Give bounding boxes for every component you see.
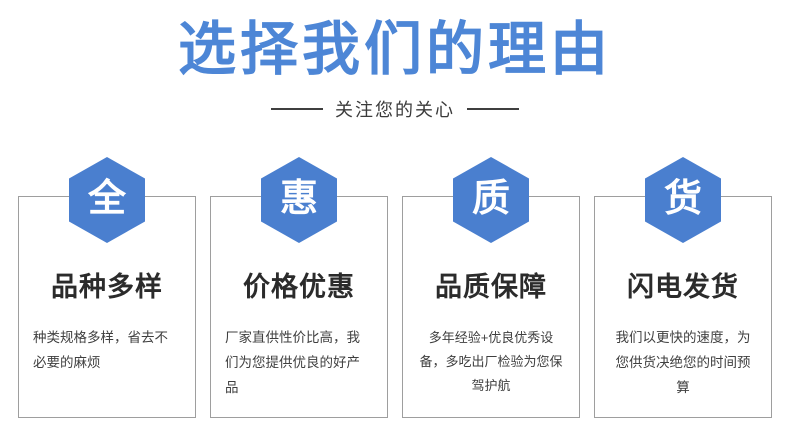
feature-card-1: 全 品种多样 种类规格多样，省去不必要的麻烦	[18, 196, 196, 418]
page-title: 选择我们的理由	[0, 18, 790, 82]
divider-left	[271, 108, 323, 110]
card-title: 品质保障	[417, 265, 565, 304]
hexagon-badge-icon: 全	[69, 157, 145, 243]
hexagon-badge-icon: 货	[645, 157, 721, 243]
card-description: 厂家直供性价比高，我们为您提供优良的好产品	[225, 326, 373, 401]
card-description: 种类规格多样，省去不必要的麻烦	[33, 326, 181, 376]
promo-poster: 选择我们的理由 关注您的关心 全 品种多样 种类规格多样，省去不必要的麻烦 惠	[0, 0, 790, 435]
feature-cards: 全 品种多样 种类规格多样，省去不必要的麻烦 惠 价格优惠 厂家直供性价比高，我…	[18, 196, 772, 418]
badge-character: 货	[664, 180, 702, 220]
badge-character: 全	[88, 180, 126, 220]
hexagon-badge-icon: 惠	[261, 157, 337, 243]
card-title: 价格优惠	[225, 265, 373, 304]
badge-character: 质	[472, 180, 510, 220]
feature-card-2: 惠 价格优惠 厂家直供性价比高，我们为您提供优良的好产品	[210, 196, 388, 418]
card-title: 闪电发货	[609, 265, 757, 304]
badge-character: 惠	[280, 180, 318, 220]
card-title: 品种多样	[33, 265, 181, 304]
subtitle-row: 关注您的关心	[0, 96, 790, 122]
divider-right	[467, 108, 519, 110]
card-description: 多年经验+优良优秀设备，多吃出厂检验为您保驾护航	[417, 326, 565, 398]
page-subtitle: 关注您的关心	[335, 96, 455, 122]
card-description: 我们以更快的速度，为您供货决绝您的时间预算	[609, 326, 757, 401]
poster-header: 选择我们的理由 关注您的关心	[0, 0, 790, 122]
feature-card-3: 质 品质保障 多年经验+优良优秀设备，多吃出厂检验为您保驾护航	[402, 196, 580, 418]
hexagon-badge-icon: 质	[453, 157, 529, 243]
feature-card-4: 货 闪电发货 我们以更快的速度，为您供货决绝您的时间预算	[594, 196, 772, 418]
